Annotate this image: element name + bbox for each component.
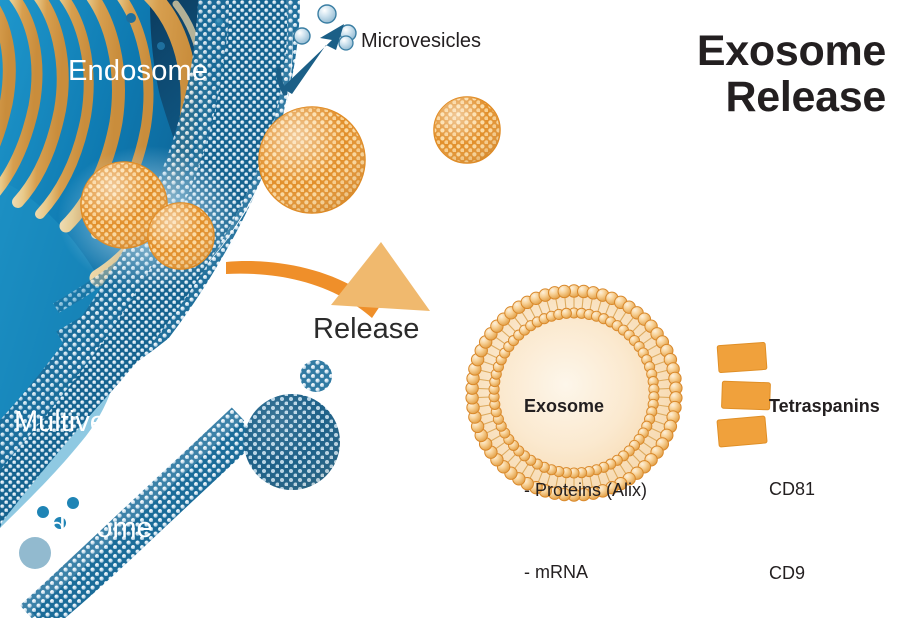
label-microvesicles: Microvesicles — [361, 30, 481, 53]
tetraspanins-callout-item: CD81 — [769, 476, 880, 504]
tetraspanins-callout: Tetraspanins CD81 CD9 CD63 — [769, 337, 880, 618]
label-mve-line-1: Multivesicular — [14, 405, 190, 440]
budding-vesicle — [244, 394, 340, 490]
title-line-1: Exosome — [697, 28, 886, 74]
exosome-callout-item: - Proteins (Alix) — [524, 477, 647, 504]
budding-vesicle-small — [300, 360, 332, 392]
tetraspanin-bar — [722, 381, 771, 410]
tetraspanins-group — [717, 342, 770, 447]
label-release: Release — [313, 313, 419, 346]
exosome-release-diagram: Exosome Release Endosome Multivesicular … — [0, 0, 900, 618]
tetraspanins-callout-heading: Tetraspanins — [769, 393, 880, 421]
tetraspanin-bar — [717, 416, 767, 447]
page-title: Exosome Release — [697, 28, 886, 121]
release-arrow — [226, 242, 430, 318]
exosome-callout: Exosome - Proteins (Alix) - mRNA - RNA -… — [524, 338, 647, 618]
release-arrow-head — [331, 242, 430, 311]
tetraspanins-callout-item: CD9 — [769, 560, 880, 588]
exosome-callout-item: - mRNA — [524, 559, 647, 586]
label-mve-line-2: Endosome — [14, 511, 190, 546]
label-endosome: Endosome — [68, 55, 208, 88]
microvesicle-dot — [339, 36, 353, 50]
microvesicle-dot — [318, 5, 336, 23]
label-multivesicular-endosome: Multivesicular Endosome — [14, 334, 190, 617]
title-line-2: Release — [697, 74, 886, 120]
microvesicle-dot — [294, 28, 310, 44]
exosome-callout-heading: Exosome — [524, 393, 647, 420]
tetraspanin-bar — [717, 342, 767, 372]
